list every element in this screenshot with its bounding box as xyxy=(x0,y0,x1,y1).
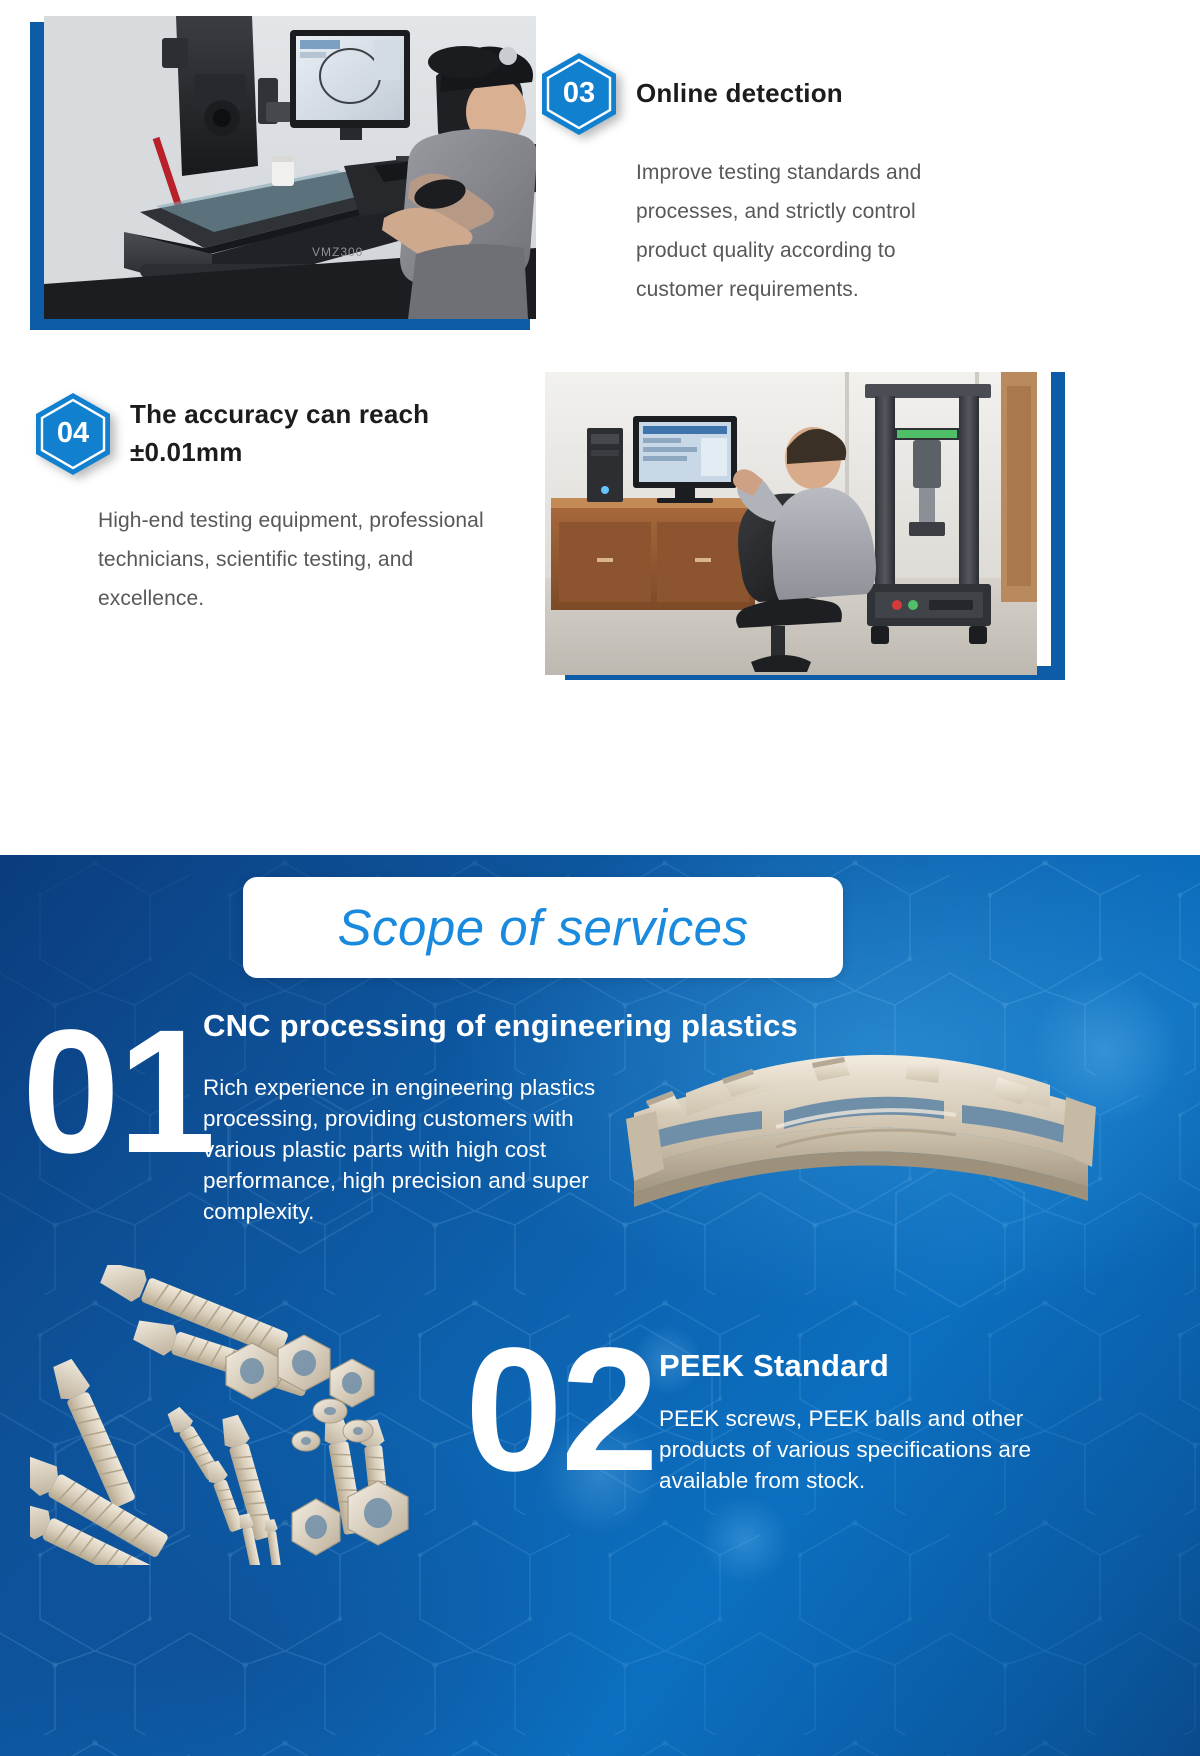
frame-bar-right xyxy=(1051,372,1065,680)
photo-online-detection: VMZ300 xyxy=(44,16,536,319)
scope-title-card: Scope of services xyxy=(243,877,843,978)
service-title-02: PEEK Standard xyxy=(659,1348,1139,1384)
badge-number: 04 xyxy=(34,392,112,476)
hexagon-network-pattern-icon xyxy=(0,855,1200,1756)
feature-head: 04 The accuracy can reach ±0.01mm xyxy=(34,392,544,476)
service-number-01: 01 xyxy=(22,1015,214,1170)
service-body-02: PEEK screws, PEEK balls and other produc… xyxy=(659,1403,1069,1496)
svg-text:VMZ300: VMZ300 xyxy=(312,245,363,259)
feature-title: The accuracy can reach ±0.01mm xyxy=(130,396,490,471)
photo-tensile-testing xyxy=(545,372,1037,675)
feature-body: Improve testing standards and processes,… xyxy=(540,154,930,309)
tensile-tester-illustration xyxy=(545,372,1037,675)
product-photo-peek-fasteners xyxy=(30,1265,480,1565)
page-title: Scope of services xyxy=(337,898,748,957)
peek-component-illustration xyxy=(626,1035,1096,1265)
feature-head: 03 Online detection xyxy=(540,52,1040,136)
service-title-01: CNC processing of engineering plastics xyxy=(203,1008,963,1044)
service-number-02: 02 xyxy=(465,1333,657,1488)
feature-body: High-end testing equipment, professional… xyxy=(34,502,484,619)
measuring-machine-illustration: VMZ300 xyxy=(44,16,536,319)
photo-frame-accuracy xyxy=(545,364,1065,694)
photo-frame-online-detection: VMZ300 xyxy=(30,8,550,338)
hexagon-badge-04-icon: 04 xyxy=(34,392,112,476)
badge-number: 03 xyxy=(540,52,618,136)
top-features-section: VMZ300 xyxy=(0,0,1200,855)
product-photo-peek-machined-part xyxy=(626,1035,1096,1265)
scope-of-services-section: Scope of services 01 CNC processing of e… xyxy=(0,855,1200,1756)
bokeh-circle xyxy=(1030,975,1180,1125)
feature-accuracy: 04 The accuracy can reach ±0.01mm High-e… xyxy=(34,392,544,619)
hexagon-badge-03-icon: 03 xyxy=(540,52,618,136)
peek-fasteners-illustration xyxy=(30,1265,480,1565)
feature-online-detection: 03 Online detection Improve testing stan… xyxy=(540,52,1040,309)
feature-title: Online detection xyxy=(636,75,843,113)
service-body-01: Rich experience in engineering plastics … xyxy=(203,1072,635,1227)
frame-bar-left xyxy=(30,22,44,330)
bokeh-circle xyxy=(700,1495,790,1585)
